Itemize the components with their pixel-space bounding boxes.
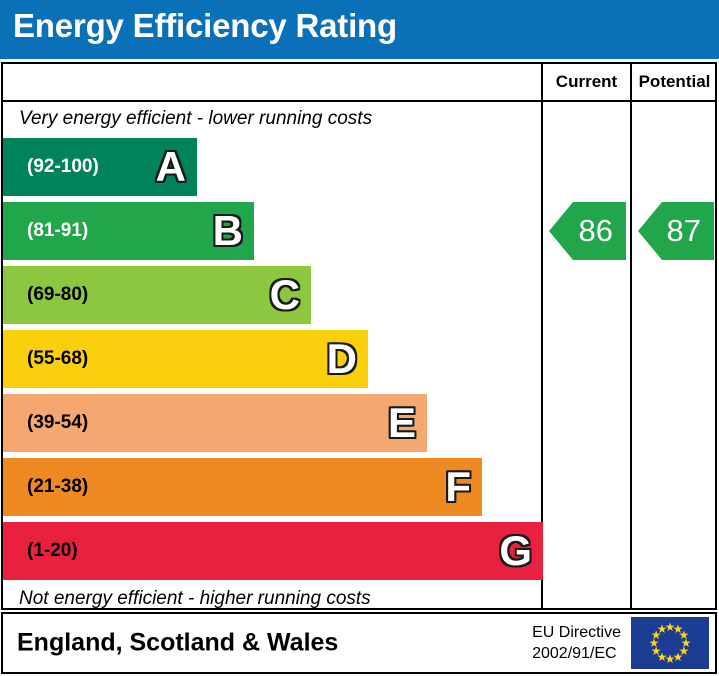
column-header-row: Current Potential: [3, 64, 715, 102]
band-letter-g: G: [499, 530, 532, 572]
rating-band-c: (69-80)C: [3, 266, 311, 324]
column-divider-2: [630, 102, 632, 610]
band-range-a: (92-100): [27, 156, 99, 178]
band-range-e: (39-54): [27, 412, 88, 434]
rating-band-a: (92-100)A: [3, 138, 197, 196]
eu-flag-icon: ★★★★★★★★★★★★: [631, 617, 709, 669]
footer-region-label: England, Scotland & Wales: [17, 629, 338, 658]
chart-footer: England, Scotland & Wales EU Directive 2…: [1, 612, 717, 674]
band-letter-b: B: [213, 210, 243, 252]
caption-not-efficient: Not energy efficient - higher running co…: [19, 588, 371, 610]
footer-directive-line1: EU Directive: [532, 622, 621, 643]
chart-frame: Current Potential Very energy efficient …: [1, 62, 717, 610]
band-range-b: (81-91): [27, 220, 88, 242]
rating-bands: (92-100)A(81-91)B(69-80)C(55-68)D(39-54)…: [3, 138, 539, 586]
band-range-g: (1-20): [27, 540, 78, 562]
band-range-f: (21-38): [27, 476, 88, 498]
caption-very-efficient: Very energy efficient - lower running co…: [19, 108, 372, 130]
rating-band-g: (1-20)G: [3, 522, 543, 580]
band-letter-f: F: [445, 466, 471, 508]
rating-band-b: (81-91)B: [3, 202, 254, 260]
rating-arrow-potential: 87: [638, 202, 714, 260]
band-range-d: (55-68): [27, 348, 88, 370]
chart-title-banner: Energy Efficiency Rating: [0, 0, 719, 59]
rating-band-f: (21-38)F: [3, 458, 482, 516]
column-header-current: Current: [541, 64, 630, 100]
band-letter-a: A: [156, 146, 186, 188]
column-header-potential: Potential: [630, 64, 717, 100]
footer-directive: EU Directive 2002/91/EC: [532, 622, 621, 664]
rating-arrow-current: 86: [549, 202, 626, 260]
eu-star-icon: ★: [657, 623, 668, 635]
rating-band-d: (55-68)D: [3, 330, 368, 388]
band-letter-c: C: [270, 274, 300, 316]
band-letter-e: E: [388, 402, 416, 444]
rating-band-e: (39-54)E: [3, 394, 427, 452]
band-letter-d: D: [327, 338, 357, 380]
footer-directive-line2: 2002/91/EC: [532, 643, 621, 664]
band-range-c: (69-80): [27, 284, 88, 306]
page-title: Energy Efficiency Rating: [13, 7, 397, 45]
energy-efficiency-rating-chart: Energy Efficiency Rating Current Potenti…: [0, 0, 719, 676]
